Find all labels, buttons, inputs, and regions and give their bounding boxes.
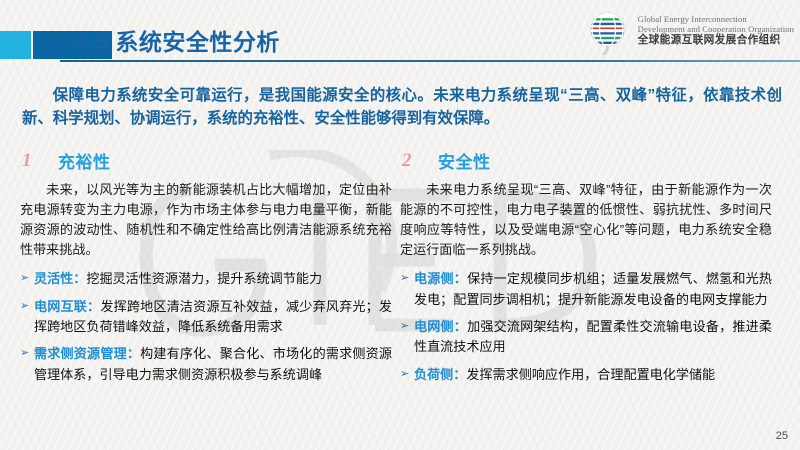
list-item-key: 电网侧： <box>414 319 467 334</box>
arrow-bullet-icon: ➢ <box>20 344 29 363</box>
slide-canvas: 3.5 系统安全性分析 <box>0 0 800 450</box>
arrow-bullet-icon: ➢ <box>20 297 29 316</box>
arrow-bullet-icon: ➢ <box>400 317 409 336</box>
organization-logo: Global Energy Interconnection Developmen… <box>584 5 794 57</box>
arrow-bullet-icon: ➢ <box>400 269 409 288</box>
column-title: 充裕性 <box>58 148 111 173</box>
column-number-badge: 2 <box>402 150 412 172</box>
logo-english-line2: Development and Cooperation Organization <box>638 25 794 35</box>
column-heading: 2 安全性 <box>400 148 772 178</box>
bullet-list: ➢ 电源侧：保持一定规模同步机组；适量发展燃气、燃氢和光热发电；配置同步调相机；… <box>400 269 772 385</box>
arrow-bullet-icon: ➢ <box>400 365 409 384</box>
arrow-bullet-icon: ➢ <box>20 269 29 288</box>
header-accent-tile <box>0 31 31 59</box>
column-heading: 1 充裕性 <box>20 148 392 178</box>
list-item-text: 挖掘灵活性资源潜力，提升系统调节能力 <box>86 271 322 286</box>
logo-chinese: 全球能源互联网发展合作组织 <box>638 35 794 47</box>
list-item: ➢ 需求侧资源管理：构建有序化、聚合化、市场化的需求侧资源管理体系，引导电力需求… <box>20 344 392 385</box>
logo-text-block: Global Energy Interconnection Developmen… <box>638 15 794 47</box>
list-item-key: 需求侧资源管理： <box>34 346 140 361</box>
bullet-list: ➢ 灵活性：挖掘灵活性资源潜力，提升系统调节能力 ➢ 电网互联：发挥跨地区清洁资… <box>20 269 392 385</box>
column-title: 安全性 <box>438 148 491 173</box>
list-item: ➢ 电网互联：发挥跨地区清洁资源互补效益，减少弃风弃光；发挥跨地区负荷错峰效益，… <box>20 297 392 338</box>
list-item-text: 保持一定规模同步机组；适量发展燃气、燃氢和光热发电；配置同步调相机；提升新能源发… <box>414 271 772 306</box>
column-body-text: 未来电力系统呈现“三高、双峰”特征，由于新能源作为一次能源的不可控性，电力电子装… <box>400 180 772 260</box>
list-item: ➢ 电源侧：保持一定规模同步机组；适量发展燃气、燃氢和光热发电；配置同步调相机；… <box>400 269 772 310</box>
list-item-text: 加强交流网架结构，配置柔性交流输电设备，推进柔性直流技术应用 <box>414 319 772 354</box>
column-security: 2 安全性 未来电力系统呈现“三高、双峰”特征，由于新能源作为一次能源的不可控性… <box>400 148 772 392</box>
column-number-badge: 1 <box>22 150 32 172</box>
list-item: ➢ 负荷侧：发挥需求侧响应作用，合理配置电化学储能 <box>400 365 772 385</box>
list-item-key: 负荷侧： <box>414 367 466 382</box>
intro-paragraph: 保障电力系统安全可靠运行，是我国能源安全的核心。未来电力系统呈现“三高、双峰”特… <box>22 84 782 131</box>
list-item: ➢ 灵活性：挖掘灵活性资源潜力，提升系统调节能力 <box>20 269 392 289</box>
list-item-key: 灵活性： <box>34 271 86 286</box>
list-item-text: 发挥需求侧响应作用，合理配置电化学储能 <box>466 367 715 382</box>
list-item-key: 电网互联： <box>34 299 100 314</box>
page-number: 25 <box>776 430 788 442</box>
list-item: ➢ 电网侧：加强交流网架结构，配置柔性交流输电设备，推进柔性直流技术应用 <box>400 317 772 358</box>
column-body-text: 未来，以风光等为主的新能源装机占比大幅增加，定位由补充电源转变为主力电源，作为市… <box>20 180 392 260</box>
list-item-key: 电源侧： <box>414 271 467 286</box>
title-divider <box>60 60 800 62</box>
page-title: 3.5 系统安全性分析 <box>75 23 280 57</box>
column-adequacy: 1 充裕性 未来，以风光等为主的新能源装机占比大幅增加，定位由补充电源转变为主力… <box>20 148 392 392</box>
slide-header: 3.5 系统安全性分析 <box>0 0 800 70</box>
globe-icon <box>584 8 631 55</box>
